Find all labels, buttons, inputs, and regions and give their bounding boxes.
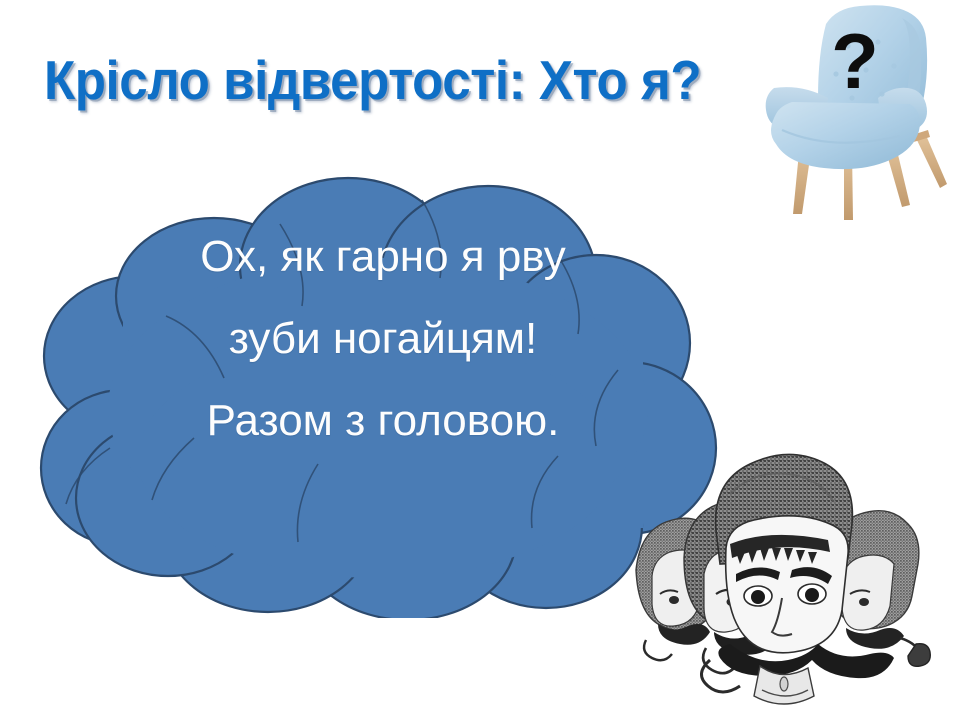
cloud-line-1: Ох, як гарно я рву [128, 216, 638, 298]
pipe-icon [908, 644, 930, 667]
armchair-image: ? [752, 2, 960, 220]
cossacks-illustration [612, 452, 952, 714]
cloud-text-block: Ох, як гарно я рву зуби ногайцям! Разом … [128, 216, 638, 462]
slide-canvas: Крісло відвертості: Хто я? [0, 0, 960, 720]
cloud-line-3: Разом з головою. [128, 380, 638, 462]
page-title: Крісло відвертості: Хто я? [44, 44, 723, 116]
question-mark-icon: ? [831, 17, 879, 105]
cloud-line-2: зуби ногайцям! [128, 298, 638, 380]
